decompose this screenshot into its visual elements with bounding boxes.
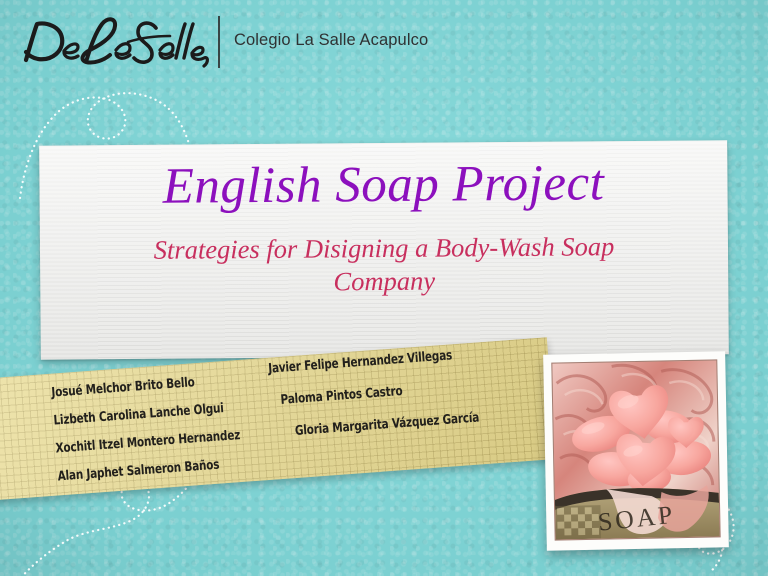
author-name: Paloma Pintos Castro bbox=[280, 379, 476, 408]
institution-name: Colegio La Salle Acapulco bbox=[234, 31, 428, 50]
delasalle-logo bbox=[20, 12, 210, 74]
author-name: Gloria Margarita Vázquez García bbox=[294, 410, 479, 438]
authors-note: Josué Melchor Brito Bello Lizbeth Caroli… bbox=[0, 337, 556, 500]
authors-left-column: Josué Melchor Brito Bello Lizbeth Caroli… bbox=[51, 370, 269, 497]
soap-photo: SOAP bbox=[551, 359, 720, 540]
author-name: Xochitl Itzel Montero Hernandez bbox=[55, 428, 241, 457]
presentation-slide: Colegio La Salle Acapulco English Soap P… bbox=[0, 0, 768, 576]
author-name: Lizbeth Carolina Lanche Olgui bbox=[53, 400, 239, 429]
slide-subtitle: Strategies for Disigning a Body-Wash Soa… bbox=[134, 230, 635, 301]
title-card: English Soap Project Strategies for Disi… bbox=[39, 140, 729, 359]
slide-header: Colegio La Salle Acapulco bbox=[0, 0, 768, 86]
author-name: Alan Japhet Salmeron Baños bbox=[57, 456, 243, 485]
soap-photo-frame: SOAP bbox=[543, 351, 729, 550]
slide-title: English Soap Project bbox=[163, 157, 605, 213]
author-name: Josué Melchor Brito Bello bbox=[51, 372, 237, 401]
authors-right-column: Javier Felipe Hernandez Villegas Paloma … bbox=[268, 345, 506, 458]
logo-divider bbox=[218, 16, 220, 68]
